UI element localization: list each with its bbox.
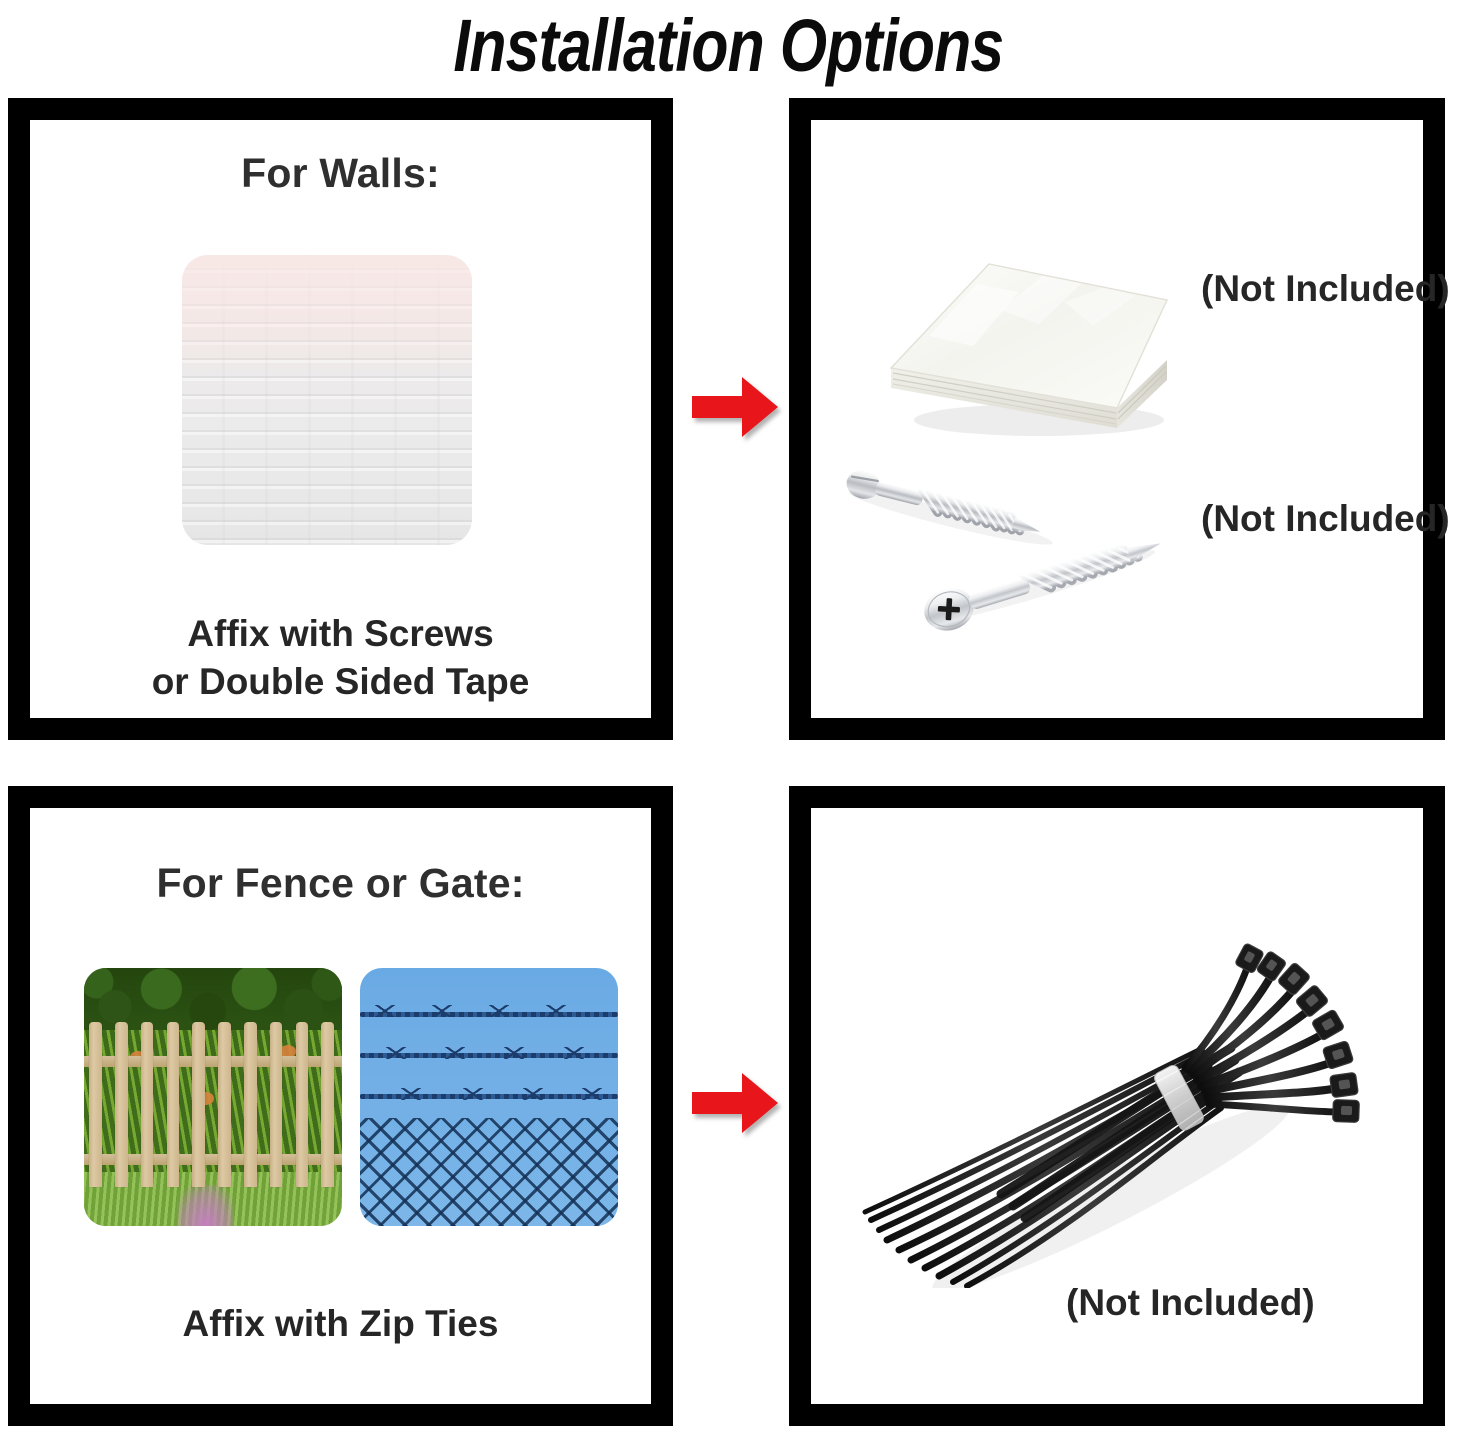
fence-picket bbox=[244, 1022, 257, 1187]
for-walls-caption-line1: Affix with Screws bbox=[30, 610, 651, 658]
fence-picket bbox=[321, 1022, 334, 1187]
zipties-not-included-label: (Not Included) bbox=[1066, 1282, 1315, 1324]
red-arrow-right-icon bbox=[690, 372, 780, 442]
wire-barb bbox=[386, 1047, 406, 1059]
wire-barb bbox=[463, 1088, 483, 1100]
wire-barb bbox=[401, 1088, 421, 1100]
wire-barb bbox=[582, 1088, 602, 1100]
page-title: Installation Options bbox=[454, 9, 1004, 83]
panel-for-walls-inner: For Walls: Affix with Screws or Double S… bbox=[30, 120, 651, 718]
wire-barb bbox=[546, 1005, 566, 1017]
wire-barb bbox=[489, 1005, 509, 1017]
wire-barb bbox=[523, 1088, 543, 1100]
for-fence-heading: For Fence or Gate: bbox=[30, 860, 651, 907]
page-title-bar: Installation Options bbox=[0, 0, 1457, 92]
wire-barb bbox=[375, 1005, 395, 1017]
barbed-wire-chain-link-fence-photo bbox=[360, 968, 618, 1226]
for-walls-heading: For Walls: bbox=[30, 150, 651, 197]
tape-not-included-label: (Not Included) bbox=[1201, 268, 1450, 310]
fence-picket bbox=[89, 1022, 102, 1187]
panel-fence-hardware-inner: (Not Included) bbox=[811, 808, 1423, 1404]
wooden-picket-fence-photo bbox=[84, 968, 342, 1226]
screws-not-included-label: (Not Included) bbox=[1201, 498, 1450, 540]
fence-picket bbox=[167, 1022, 180, 1187]
for-fence-caption-line1: Affix with Zip Ties bbox=[30, 1300, 651, 1348]
wire-barb bbox=[504, 1047, 524, 1059]
chain-link-mesh bbox=[360, 1118, 618, 1226]
black-zip-ties-bundle-photo bbox=[841, 898, 1361, 1288]
fence-pickets bbox=[84, 968, 342, 1226]
panel-for-fence-or-gate: For Fence or Gate: bbox=[8, 786, 673, 1426]
silver-screws-photo bbox=[833, 450, 1183, 635]
fence-picket bbox=[115, 1022, 128, 1187]
fence-picket bbox=[296, 1022, 309, 1187]
for-fence-caption: Affix with Zip Ties bbox=[30, 1300, 651, 1348]
panel-wall-hardware-inner: (Not Included) bbox=[811, 120, 1423, 718]
brick-top-highlight bbox=[182, 255, 472, 371]
wire-barb bbox=[564, 1047, 584, 1059]
wire-barb bbox=[445, 1047, 465, 1059]
fence-picket bbox=[270, 1022, 283, 1187]
barbed-wire-strand bbox=[360, 1094, 618, 1099]
double-sided-tape-stack-photo bbox=[869, 240, 1189, 450]
panel-fence-hardware: (Not Included) bbox=[789, 786, 1445, 1426]
wire-barb bbox=[432, 1005, 452, 1017]
red-arrow-right-icon bbox=[690, 1068, 780, 1138]
panel-wall-hardware: (Not Included) bbox=[789, 98, 1445, 740]
panel-for-walls: For Walls: Affix with Screws or Double S… bbox=[8, 98, 673, 740]
for-walls-caption: Affix with Screws or Double Sided Tape bbox=[30, 610, 651, 706]
fence-picket bbox=[141, 1022, 154, 1187]
panel-for-fence-or-gate-inner: For Fence or Gate: bbox=[30, 808, 651, 1404]
fence-picket bbox=[192, 1022, 205, 1187]
white-brick-wall-photo bbox=[182, 255, 472, 545]
fence-picket bbox=[218, 1022, 231, 1187]
for-walls-caption-line2: or Double Sided Tape bbox=[30, 658, 651, 706]
